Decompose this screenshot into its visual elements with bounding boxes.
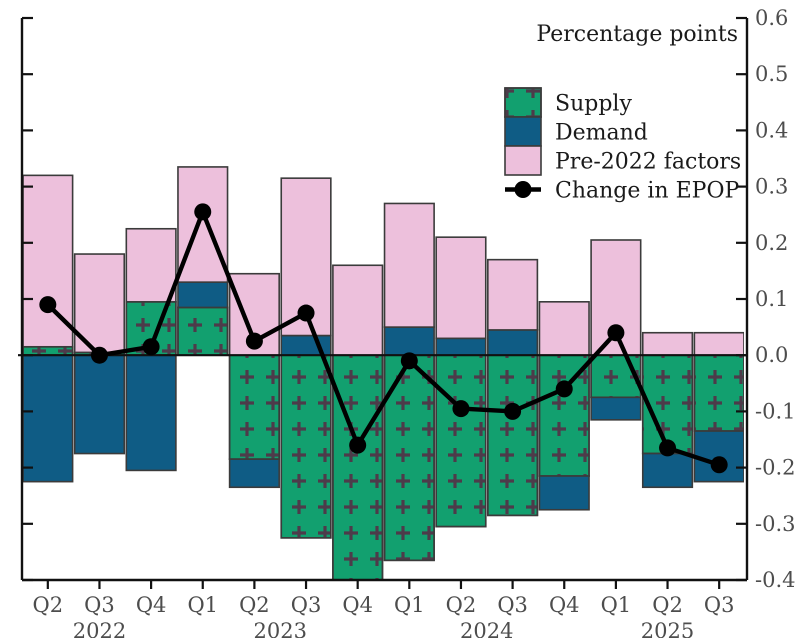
bar-segment-demand — [126, 355, 176, 470]
bar-segment-pre-2022-factors — [643, 333, 693, 355]
bar-hatch-overlay — [333, 355, 383, 599]
bar-segment-demand — [230, 459, 280, 487]
epop-point — [298, 305, 315, 322]
bar-hatch-overlay — [488, 355, 538, 515]
bar-segment-demand — [488, 330, 538, 355]
x-tick-label-quarter: Q3 — [704, 593, 735, 617]
bar-hatch-overlay — [694, 355, 744, 431]
x-tick-label-quarter: Q2 — [33, 593, 64, 617]
bar-group — [539, 302, 589, 510]
bar-segment-demand — [178, 282, 228, 307]
demand-swatch — [505, 117, 541, 146]
x-tick-label-quarter: Q1 — [394, 593, 425, 617]
bar-group — [488, 260, 538, 516]
bar-hatch-overlay — [539, 355, 589, 476]
epop-point — [711, 456, 728, 473]
epop-point — [659, 439, 676, 456]
epop-point — [401, 352, 418, 369]
legend-label: Supply — [555, 92, 632, 117]
bar-segment-demand — [539, 476, 589, 510]
y-tick-label: 0.1 — [755, 287, 788, 311]
bar-segment-demand — [643, 454, 693, 488]
x-tick-label-year: 2023 — [253, 619, 306, 638]
x-tick-label-quarter: Q3 — [291, 593, 322, 617]
y-tick-label: 0.2 — [755, 231, 788, 255]
y-tick-label: 0.3 — [755, 175, 788, 199]
epop-point — [91, 347, 108, 364]
legend-label: Demand — [555, 121, 648, 146]
bar-segment-pre-2022-factors — [333, 265, 383, 355]
epop-marker-dot — [515, 181, 532, 198]
epop-point — [194, 203, 211, 220]
bar-segment-demand — [23, 355, 73, 481]
legend-item: Pre-2022 factors — [505, 146, 741, 175]
x-tick-label-year: 2024 — [460, 619, 513, 638]
legend-label: Change in EPOP — [555, 179, 739, 204]
bar-group — [333, 265, 383, 599]
y-tick-label: 0.4 — [755, 118, 788, 142]
y-tick-label: 0.0 — [755, 343, 788, 367]
bar-segment-demand — [591, 397, 641, 419]
bar-segment-pre-2022-factors — [539, 302, 589, 355]
bar-segment-pre-2022-factors — [436, 237, 486, 338]
x-tick-label-year: 2022 — [73, 619, 126, 638]
bar-segment-demand — [385, 327, 435, 355]
bar-segment-pre-2022-factors — [694, 333, 744, 355]
bar-segment-demand — [436, 338, 486, 355]
x-tick-label-quarter: Q4 — [549, 593, 580, 617]
y-tick-label: -0.3 — [755, 512, 796, 536]
bar-group — [385, 203, 435, 560]
x-tick-label-quarter: Q4 — [342, 593, 373, 617]
epop-point — [556, 380, 573, 397]
unit-label: Percentage points — [536, 22, 738, 47]
bar-hatch-overlay — [281, 355, 331, 538]
bar-hatch-overlay — [436, 355, 486, 526]
legend-label: Pre-2022 factors — [555, 150, 741, 175]
bar-segment-pre-2022-factors — [385, 203, 435, 327]
bar-group — [23, 175, 73, 481]
epop-point — [504, 403, 521, 420]
x-tick-label-quarter: Q3 — [84, 593, 115, 617]
x-tick-label-year: 2025 — [641, 619, 694, 638]
bar-hatch-overlay — [23, 347, 73, 355]
y-tick-label: 0.6 — [755, 6, 788, 30]
x-tick-label-quarter: Q2 — [239, 593, 270, 617]
bar-segment-pre-2022-factors — [126, 229, 176, 302]
bar-group — [230, 274, 280, 488]
x-tick-label-quarter: Q2 — [652, 593, 683, 617]
chart-figure: 0.60.50.40.30.20.10.0-0.1-0.2-0.3-0.4 Q2… — [0, 0, 796, 638]
legend-item: Supply — [505, 88, 632, 117]
y-tick-label: -0.1 — [755, 399, 796, 423]
x-tick-label-quarter: Q1 — [601, 593, 632, 617]
epop-point — [143, 338, 160, 355]
bar-group — [436, 237, 486, 526]
bar-hatch-overlay — [178, 307, 228, 355]
epop-point — [452, 400, 469, 417]
y-tick-label: -0.2 — [755, 456, 796, 480]
legend-item: Demand — [505, 117, 648, 146]
y-tick-label: -0.4 — [755, 568, 796, 592]
epop-point — [349, 437, 366, 454]
epop-point — [39, 296, 56, 313]
x-tick-label-quarter: Q1 — [187, 593, 218, 617]
epop-point — [246, 333, 263, 350]
bar-hatch-overlay — [230, 355, 280, 459]
x-tick-label-quarter: Q3 — [497, 593, 528, 617]
epop-point — [607, 324, 624, 341]
bar-segment-pre-2022-factors — [488, 260, 538, 330]
x-tick-label-quarter: Q4 — [136, 593, 167, 617]
chart-canvas: 0.60.50.40.30.20.10.0-0.1-0.2-0.3-0.4 Q2… — [0, 0, 796, 638]
legend-swatch-hatch — [505, 88, 541, 117]
bar-segment-pre-2022-factors — [178, 167, 228, 282]
x-tick-label-quarter: Q2 — [446, 593, 477, 617]
y-tick-label: 0.5 — [755, 62, 788, 86]
bar-segment-demand — [75, 355, 125, 453]
pre2022-swatch — [505, 146, 541, 175]
